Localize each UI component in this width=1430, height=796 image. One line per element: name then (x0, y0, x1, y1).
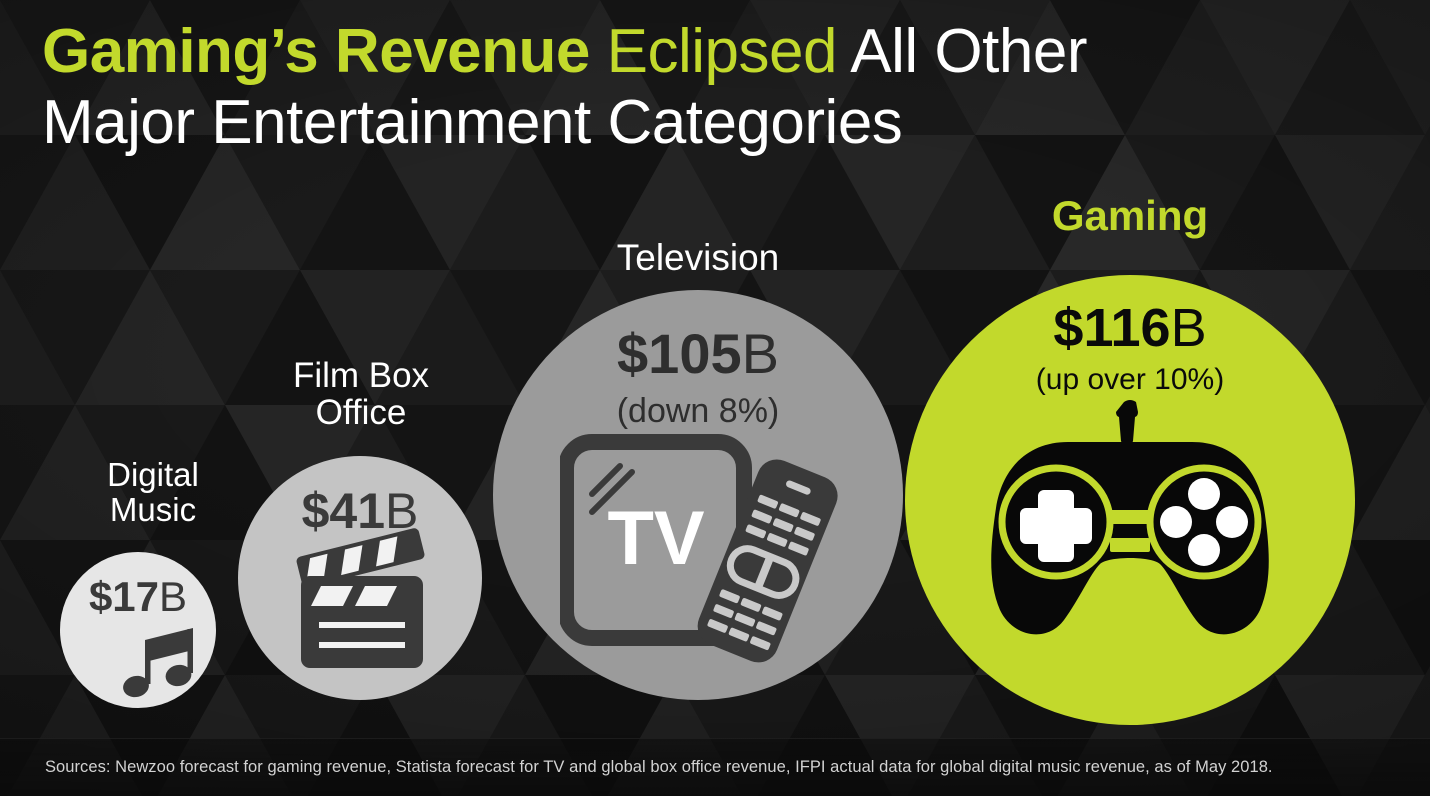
value-amount-gaming: $116 (1053, 298, 1170, 358)
source-footer: Sources: Newzoo forecast for gaming reve… (0, 738, 1430, 796)
bubble-label-gaming: Gaming (1000, 194, 1260, 239)
value-film-box-office: $41B (302, 486, 419, 536)
value-television: $105B (617, 326, 779, 382)
note-television: (down 8%) (617, 394, 780, 428)
value-digital-music: $17B (89, 576, 187, 618)
source-text: Sources: Newzoo forecast for gaming reve… (0, 758, 1273, 777)
infographic-canvas: Gaming’s Revenue Eclipsed All Other Majo… (0, 0, 1430, 796)
bubble-label-television: Television (568, 238, 828, 277)
note-gaming: (up over 10%) (1036, 365, 1224, 395)
value-amount-television: $105 (617, 322, 742, 385)
bubble-label-digital-music: Digital Music (78, 458, 228, 528)
value-suffix-television: B (742, 322, 779, 385)
title-words-all-other: All Other (850, 17, 1087, 86)
title-highlight-gaming-revenue: Gaming’s Revenue (42, 17, 590, 86)
bubble-television[interactable]: $105B (down 8%) (493, 290, 903, 700)
value-amount-digital-music: $17 (89, 573, 159, 620)
title-line-2: Major Entertainment Categories (42, 93, 1087, 153)
title-word-eclipsed: Eclipsed (607, 17, 837, 86)
value-amount-film-box-office: $41 (302, 483, 385, 539)
bubble-label-film-box-office: Film Box Office (258, 357, 464, 431)
page-title: Gaming’s Revenue Eclipsed All Other Majo… (42, 22, 1087, 152)
value-suffix-digital-music: B (159, 573, 187, 620)
value-gaming: $116B (1053, 301, 1206, 355)
value-suffix-gaming: B (1171, 298, 1207, 358)
value-suffix-film-box-office: B (385, 483, 418, 539)
bubble-gaming[interactable]: $116B (up over 10%) (905, 275, 1355, 725)
bubble-digital-music[interactable]: $17B (60, 552, 216, 708)
title-line-1: Gaming’s Revenue Eclipsed All Other (42, 22, 1087, 82)
bubble-film-box-office[interactable]: $41B (238, 456, 482, 700)
